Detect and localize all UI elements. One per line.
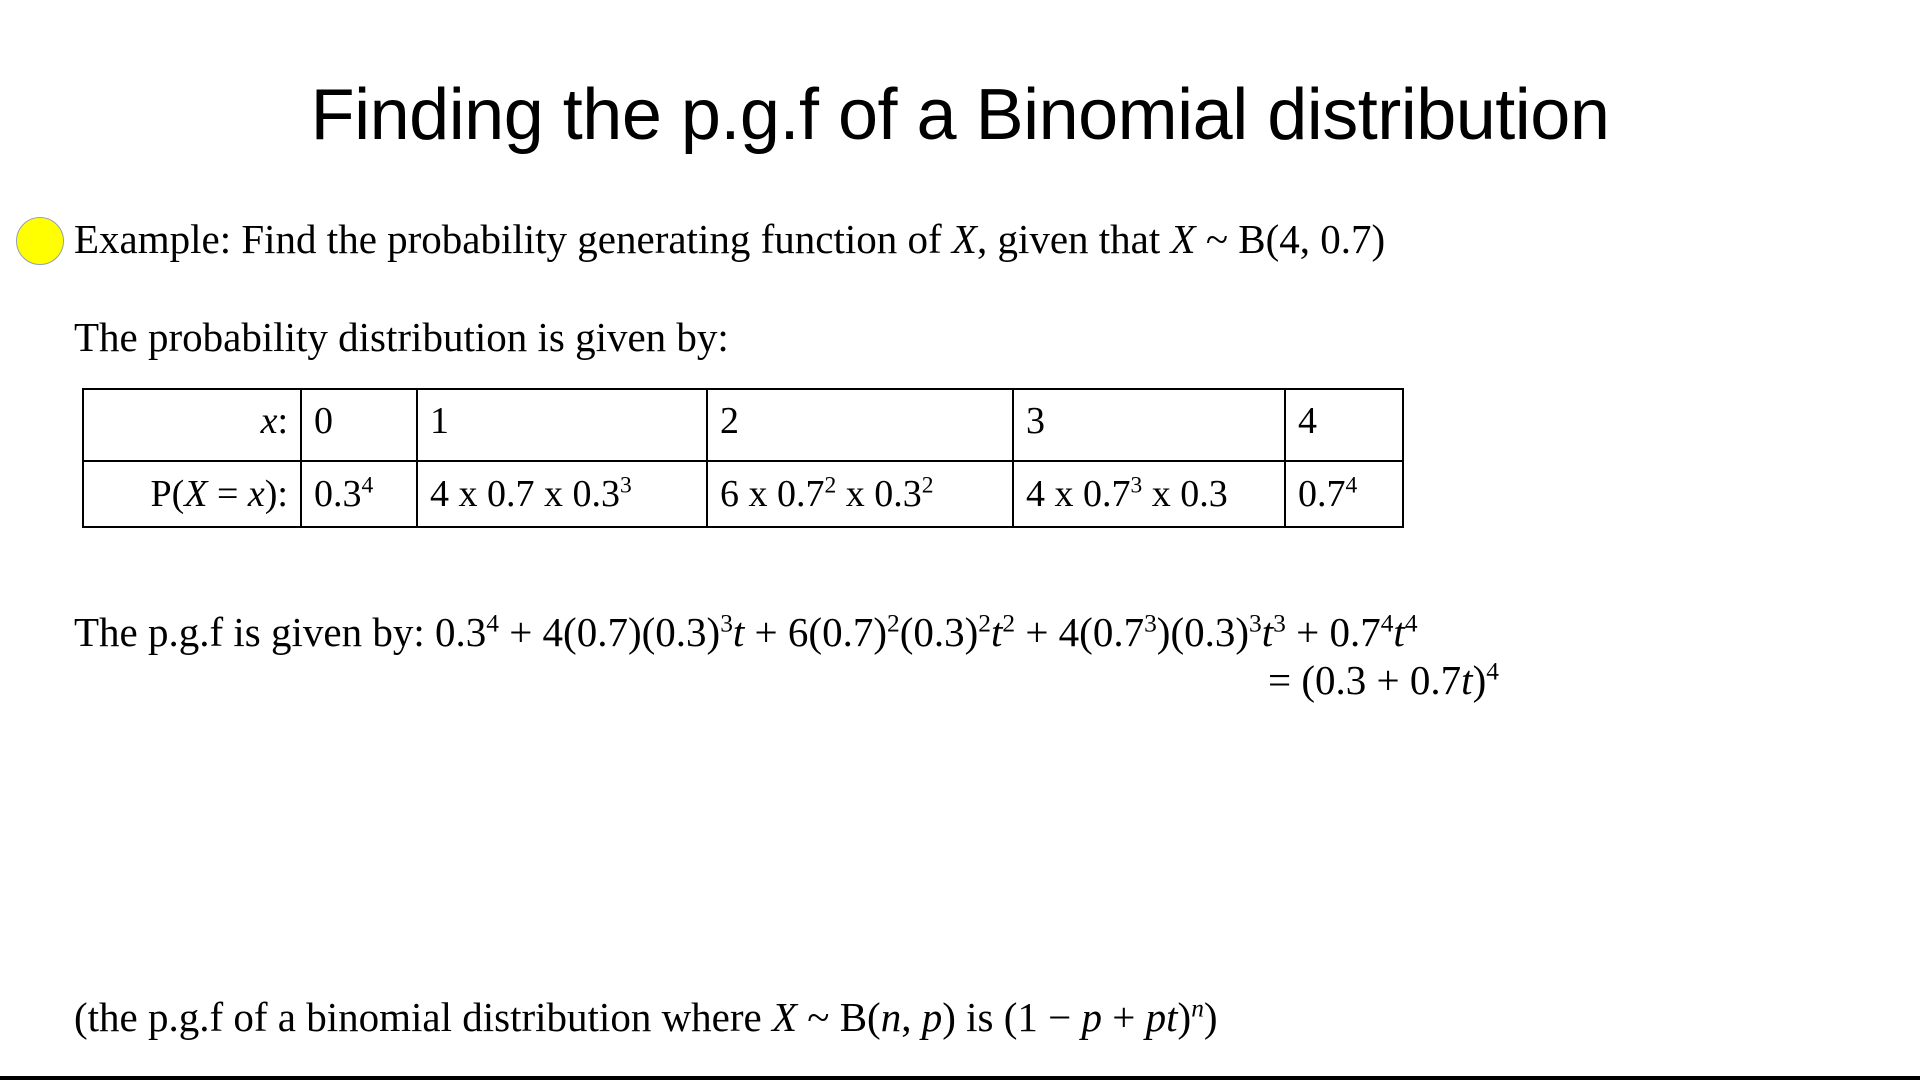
table-cell-x-3: 3	[1013, 389, 1285, 461]
table-cell-p-3: 4 x 0.73 x 0.3	[1013, 461, 1285, 527]
example-bullet-text: Example: Find the probability generating…	[74, 212, 1385, 266]
table-row-label-x: x:	[83, 389, 301, 461]
table-cell-p-4: 0.74	[1285, 461, 1403, 527]
table-row-x-values: x: 0 1 2 3 4	[83, 389, 1403, 461]
table-cell-x-0: 0	[301, 389, 417, 461]
yellow-circle-bullet-icon	[16, 217, 64, 265]
table-cell-x-1: 1	[417, 389, 707, 461]
slide-canvas: Finding the p.g.f of a Binomial distribu…	[0, 0, 1920, 1080]
pgf-result-line: = (0.3 + 0.7t)4	[1268, 653, 1499, 707]
general-pgf-note: (the p.g.f of a binomial distribution wh…	[74, 990, 1218, 1044]
table-cell-p-2: 6 x 0.72 x 0.32	[707, 461, 1013, 527]
example-bullet-row: Example: Find the probability generating…	[0, 212, 1860, 268]
page-title: Finding the p.g.f of a Binomial distribu…	[0, 72, 1920, 158]
distribution-intro-text: The probability distribution is given by…	[74, 310, 729, 364]
distribution-table: x: 0 1 2 3 4 P(X = x): 0.34 4 x 0.7 x 0.…	[82, 388, 1404, 528]
table-cell-p-0: 0.34	[301, 461, 417, 527]
table-row-probabilities: P(X = x): 0.34 4 x 0.7 x 0.33 6 x 0.72 x…	[83, 461, 1403, 527]
table-cell-x-2: 2	[707, 389, 1013, 461]
table-cell-x-4: 4	[1285, 389, 1403, 461]
table-row-label-probability: P(X = x):	[83, 461, 301, 527]
table-cell-p-1: 4 x 0.7 x 0.33	[417, 461, 707, 527]
pgf-expression-line: The p.g.f is given by: 0.34 + 4(0.7)(0.3…	[74, 605, 1418, 659]
